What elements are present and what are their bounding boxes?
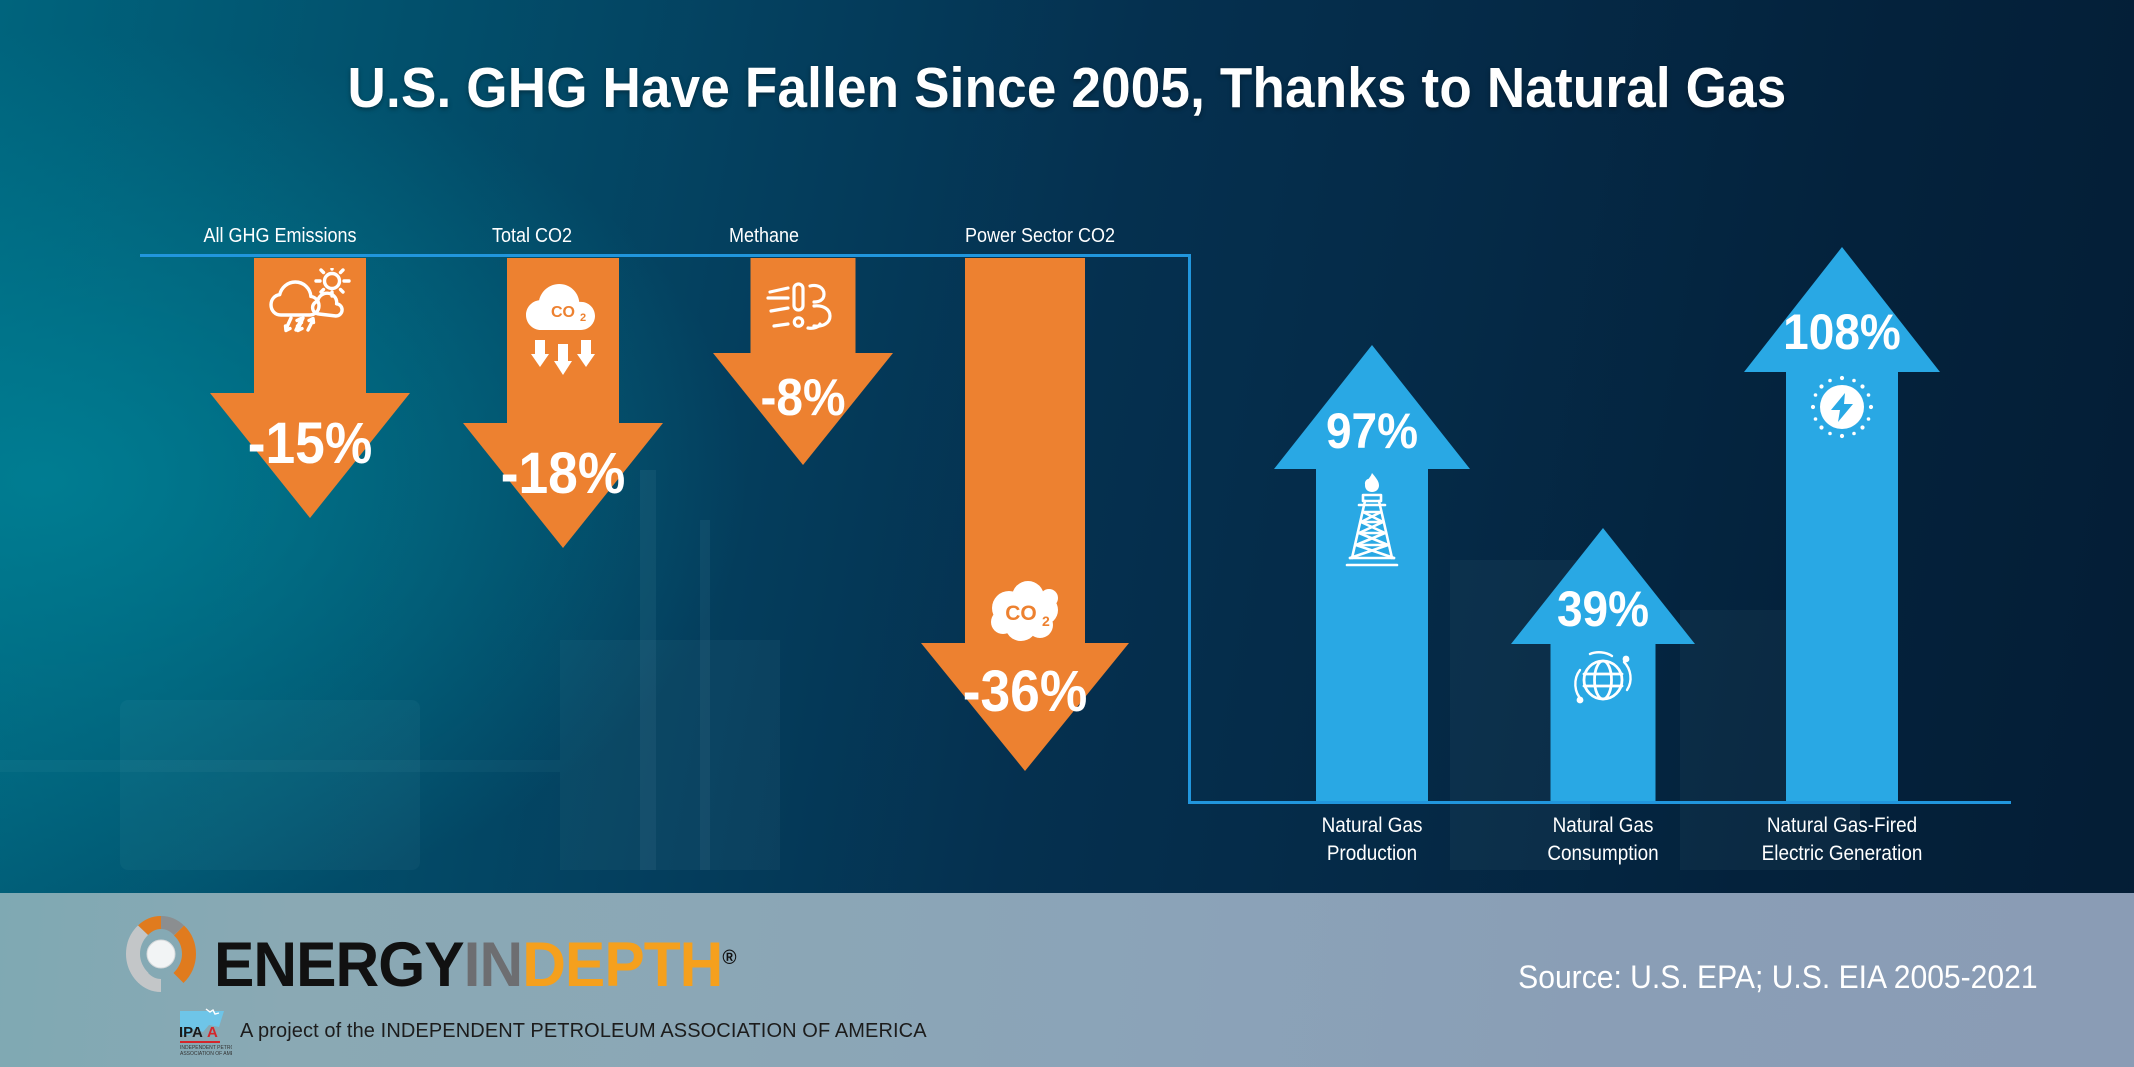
increase-label-line1: Natural Gas-Fired xyxy=(1707,812,1977,840)
co2-cloud-icon: CO 2 xyxy=(983,578,1067,655)
decrease-axis-line xyxy=(140,254,1190,257)
ipaa-tagline-text: A project of the INDEPENDENT PETROLEUM A… xyxy=(240,1020,927,1043)
increase-label-line1: Natural Gas xyxy=(1264,812,1480,840)
background-silhouette-block xyxy=(560,640,780,870)
svg-text:CO: CO xyxy=(551,304,575,321)
logo-word-depth: DEPTH xyxy=(522,930,722,1000)
svg-text:IPA: IPA xyxy=(179,1024,203,1041)
energy-in-depth-logo-mark xyxy=(118,911,204,997)
decrease-label-1: All GHG Emissions xyxy=(163,225,397,248)
infographic-root: U.S. GHG Have Fallen Since 2005, Thanks … xyxy=(0,0,2134,1067)
globe-network-icon xyxy=(1568,644,1638,719)
increase-label-line2: Electric Generation xyxy=(1707,840,1977,868)
registered-trademark-icon: ® xyxy=(722,947,735,969)
decrease-value-all-ghg: -15% xyxy=(248,410,373,477)
svg-text:2: 2 xyxy=(1042,613,1050,629)
co2-cloud-down-arrows-icon: CO 2 xyxy=(521,284,605,381)
decrease-arrow-power-sector-co2: CO 2 -36% xyxy=(920,258,1130,768)
methane-gas-puff-icon xyxy=(764,280,842,347)
cloud-sun-rain-icon xyxy=(267,268,353,351)
increase-label-ng-electric-generation: Natural Gas-Fired Electric Generation xyxy=(1707,812,1977,868)
increase-axis-vertical xyxy=(1188,256,1191,803)
increase-value-ng-consumption: 39% xyxy=(1557,580,1649,638)
decrease-arrow-total-co2: CO 2 -18% xyxy=(463,258,663,548)
increase-axis-baseline xyxy=(1188,801,2011,804)
lightning-bolt-circle-icon xyxy=(1804,369,1880,450)
source-attribution: Source: U.S. EPA; U.S. EIA 2005-2021 xyxy=(1519,959,2038,996)
background-silhouette-pipes xyxy=(0,760,560,772)
decrease-arrow-all-ghg: -15% xyxy=(210,258,410,508)
decrease-label-2: Total CO2 xyxy=(424,225,640,248)
increase-value-ng-electric-generation: 108% xyxy=(1783,303,1901,361)
energy-in-depth-logo[interactable]: ENERGYINDEPTH® xyxy=(118,911,757,997)
increase-label-line1: Natural Gas xyxy=(1495,812,1711,840)
increase-arrow-ng-consumption: 39% xyxy=(1508,528,1698,801)
ipaa-tagline: IPA A INDEPENDENT PETROLEUM ASSOCIATION … xyxy=(176,1005,927,1057)
footer-bar: ENERGYINDEPTH® IPA A INDEPENDENT PETROLE… xyxy=(0,893,2134,1067)
increase-label-ng-consumption: Natural Gas Consumption xyxy=(1495,812,1711,868)
svg-text:A: A xyxy=(207,1024,218,1041)
decrease-value-methane: -8% xyxy=(760,368,845,428)
logo-word-energy: ENERGY xyxy=(214,930,464,1000)
background-silhouette-tank xyxy=(120,700,420,870)
logo-word-in: IN xyxy=(464,930,523,1000)
increase-value-ng-production: 97% xyxy=(1326,402,1418,460)
increase-arrow-ng-electric-generation: 108% xyxy=(1742,247,1942,801)
energy-in-depth-wordmark: ENERGYINDEPTH® xyxy=(214,927,736,997)
svg-text:2: 2 xyxy=(580,312,586,324)
increase-arrow-ng-production: 97% xyxy=(1272,345,1472,801)
drilling-rig-flame-icon xyxy=(1339,470,1405,573)
decrease-value-power-sector-co2: -36% xyxy=(963,658,1088,725)
svg-text:ASSOCIATION OF AMERICA: ASSOCIATION OF AMERICA xyxy=(180,1051,232,1057)
ipaa-logo-icon: IPA A INDEPENDENT PETROLEUM ASSOCIATION … xyxy=(176,1005,232,1057)
increase-label-line2: Consumption xyxy=(1495,840,1711,868)
increase-label-line2: Production xyxy=(1264,840,1480,868)
svg-text:CO: CO xyxy=(1005,602,1037,625)
decrease-label-4: Power Sector CO2 xyxy=(914,225,1166,248)
decrease-arrow-methane: -8% xyxy=(713,258,893,458)
decrease-label-3: Methane xyxy=(665,225,863,248)
increase-label-ng-production: Natural Gas Production xyxy=(1264,812,1480,868)
decrease-value-total-co2: -18% xyxy=(501,440,626,507)
page-title: U.S. GHG Have Fallen Since 2005, Thanks … xyxy=(75,55,2060,121)
